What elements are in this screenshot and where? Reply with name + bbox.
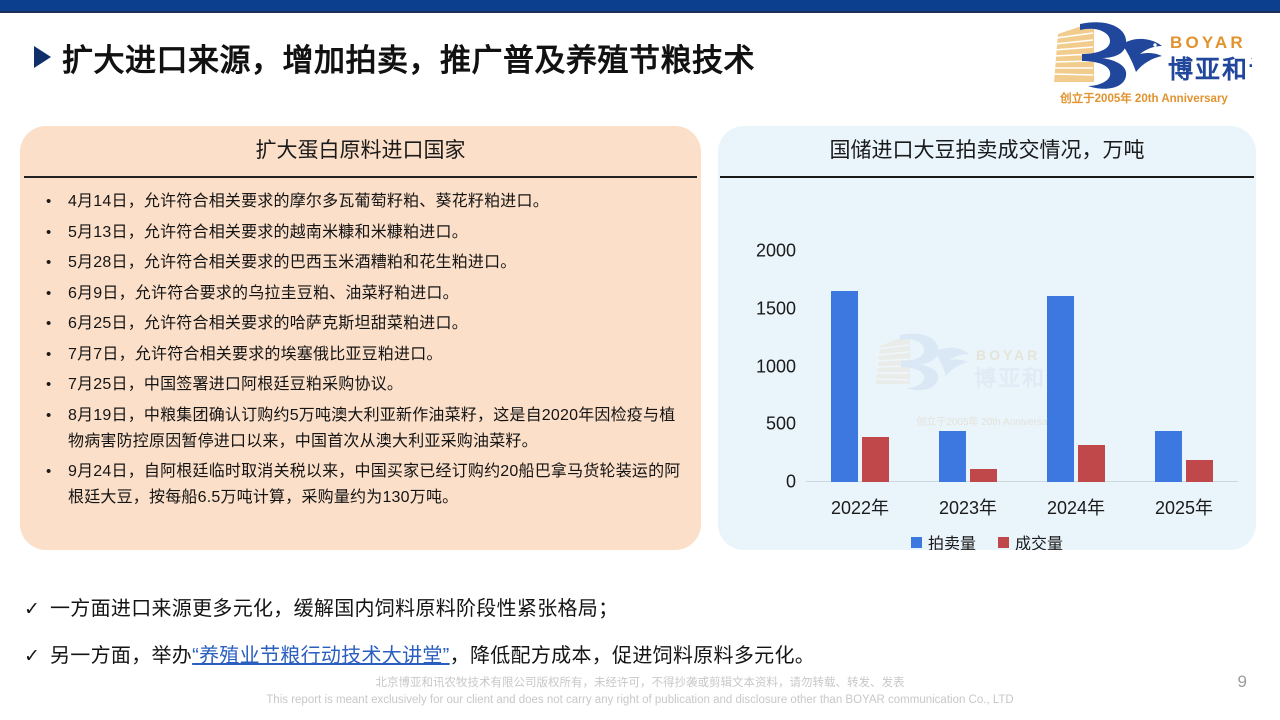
- y-axis-tick-label: 2000: [756, 241, 796, 262]
- bar-traded-volume: [1186, 460, 1213, 482]
- list-item-text: 7月7日，允许符合相关要求的埃塞俄比亚豆粕进口。: [68, 342, 443, 368]
- list-item: •8月19日，中粮集团确认订购约5万吨澳大利亚新作油菜籽，这是自2020年因检疫…: [46, 403, 681, 455]
- bar-auction-volume: [1155, 431, 1182, 482]
- x-axis-tick-label: 2024年: [1047, 494, 1105, 520]
- bullet-dot-icon: •: [46, 403, 68, 429]
- page-number: 9: [1238, 672, 1247, 692]
- conclusion-text: 另一方面，举办“养殖业节粮行动技术大讲堂”，降低配方成本，促进饲料原料多元化。: [50, 639, 815, 668]
- x-axis-tick-label: 2022年: [831, 494, 889, 520]
- left-content-panel: 扩大蛋白原料进口国家 •4月14日，允许符合相关要求的摩尔多瓦葡萄籽粕、葵花籽粕…: [20, 126, 701, 550]
- y-axis-tick-label: 0: [786, 472, 796, 493]
- footer-copyright-en: This report is meant exclusively for our…: [0, 692, 1280, 709]
- bar-traded-volume: [970, 469, 997, 482]
- page-title-text: 扩大进口来源，增加拍卖，推广普及养殖节粮技术: [62, 35, 755, 80]
- bullet-dot-icon: •: [46, 372, 68, 398]
- list-item: •5月28日，允许符合相关要求的巴西玉米酒糟粕和花生粕进口。: [46, 250, 681, 276]
- bar-traded-volume: [862, 437, 889, 482]
- list-item: •6月25日，允许符合相关要求的哈萨克斯坦甜菜粕进口。: [46, 311, 681, 337]
- page-title: 扩大进口来源，增加拍卖，推广普及养殖节粮技术: [34, 31, 755, 83]
- bullet-dot-icon: •: [46, 342, 68, 368]
- conclusion-text-post: ，降低配方成本，促进饲料原料多元化。: [450, 645, 815, 667]
- list-item-text: 5月13日，允许符合相关要求的越南米糠和米糠粕进口。: [68, 220, 468, 246]
- conclusion-row: ✓另一方面，举办“养殖业节粮行动技术大讲堂”，降低配方成本，促进饲料原料多元化。: [24, 639, 1244, 668]
- chart-panel: 国储进口大豆拍卖成交情况，万吨 BOYAR 博亚和讯 创立于2005年 20th: [718, 126, 1256, 550]
- bar-auction-volume: [831, 291, 858, 482]
- list-item-text: 6月25日，允许符合相关要求的哈萨克斯坦甜菜粕进口。: [68, 311, 468, 337]
- company-logo: BOYAR 博亚和讯 创立于2005年 20th Anniversary: [1036, 16, 1252, 108]
- x-axis-tick-label: 2023年: [939, 494, 997, 520]
- bar-auction-volume: [1047, 296, 1074, 482]
- list-item-text: 8月19日，中粮集团确认订购约5万吨澳大利亚新作油菜籽，这是自2020年因检疫与…: [68, 403, 681, 455]
- list-item-text: 9月24日，自阿根廷临时取消关税以来，中国买家已经订购约20船巴拿马货轮装运的阿…: [68, 459, 681, 511]
- bullet-list: •4月14日，允许符合相关要求的摩尔多瓦葡萄籽粕、葵花籽粕进口。•5月13日，允…: [20, 178, 701, 511]
- x-axis-labels: 2022年2023年2024年2025年: [806, 494, 1238, 522]
- bullet-dot-icon: •: [46, 281, 68, 307]
- top-accent-bar: [0, 0, 1280, 13]
- y-axis-tick-label: 1000: [756, 356, 796, 377]
- chart-legend: 拍卖量成交量: [718, 530, 1256, 550]
- conclusion-hyperlink[interactable]: “养殖业节粮行动技术大讲堂”: [192, 645, 450, 667]
- y-axis: 0500100015002000: [718, 178, 800, 550]
- list-item: •6月9日，允许符合要求的乌拉圭豆粕、油菜籽粕进口。: [46, 281, 681, 307]
- bar-auction-volume: [939, 431, 966, 482]
- list-item-text: 5月28日，允许符合相关要求的巴西玉米酒糟粕和花生粕进口。: [68, 250, 517, 276]
- bar-traded-volume: [1078, 445, 1105, 482]
- conclusion-text-pre: 另一方面，举办: [50, 645, 192, 667]
- bullet-dot-icon: •: [46, 459, 68, 485]
- check-icon: ✓: [24, 598, 50, 621]
- logo-bird-mark: BOYAR 博亚和讯: [1036, 16, 1252, 96]
- conclusion-text: 一方面进口来源更多元化，缓解国内饲料原料阶段性紧张格局；: [50, 592, 618, 621]
- y-axis-tick-label: 500: [766, 414, 796, 435]
- footer-copyright-cn: 北京博亚和讯农牧技术有限公司版权所有，未经许可，不得抄袭或剪辑文本资料，请勿转载…: [0, 675, 1280, 692]
- list-item: •4月14日，允许符合相关要求的摩尔多瓦葡萄籽粕、葵花籽粕进口。: [46, 189, 681, 215]
- conclusion-row: ✓一方面进口来源更多元化，缓解国内饲料原料阶段性紧张格局；: [24, 592, 1244, 621]
- list-item-text: 7月25日，中国签署进口阿根廷豆粕采购协议。: [68, 372, 403, 398]
- left-panel-title: 扩大蛋白原料进口国家: [20, 126, 701, 176]
- conclusion-text-pre: 一方面进口来源更多元化，缓解国内饲料原料阶段性紧张格局；: [50, 598, 618, 620]
- bullet-dot-icon: •: [46, 250, 68, 276]
- footer: 北京博亚和讯农牧技术有限公司版权所有，未经许可，不得抄袭或剪辑文本资料，请勿转载…: [0, 675, 1280, 709]
- bullet-dot-icon: •: [46, 220, 68, 246]
- legend-label: 拍卖量: [928, 530, 976, 550]
- bullet-dot-icon: •: [46, 311, 68, 337]
- triangle-bullet-icon: [34, 46, 51, 68]
- chart-area: BOYAR 博亚和讯 创立于2005年 20th Anniversary 050…: [718, 178, 1256, 550]
- y-axis-tick-label: 1500: [756, 298, 796, 319]
- legend-swatch-icon: [911, 537, 922, 548]
- svg-text:BOYAR: BOYAR: [1170, 33, 1246, 52]
- legend-item[interactable]: 成交量: [998, 530, 1063, 550]
- legend-label: 成交量: [1015, 530, 1063, 550]
- legend-item[interactable]: 拍卖量: [911, 530, 976, 550]
- list-item: •7月25日，中国签署进口阿根廷豆粕采购协议。: [46, 372, 681, 398]
- conclusion-list: ✓一方面进口来源更多元化，缓解国内饲料原料阶段性紧张格局；✓另一方面，举办“养殖…: [24, 592, 1244, 686]
- legend-swatch-icon: [998, 537, 1009, 548]
- x-axis-tick-label: 2025年: [1155, 494, 1213, 520]
- logo-tagline: 创立于2005年 20th Anniversary: [1036, 90, 1252, 106]
- list-item: •5月13日，允许符合相关要求的越南米糠和米糠粕进口。: [46, 220, 681, 246]
- list-item-text: 6月9日，允许符合要求的乌拉圭豆粕、油菜籽粕进口。: [68, 281, 459, 307]
- chart-title: 国储进口大豆拍卖成交情况，万吨: [718, 126, 1256, 176]
- bullet-dot-icon: •: [46, 189, 68, 215]
- check-icon: ✓: [24, 645, 50, 668]
- list-item-text: 4月14日，允许符合相关要求的摩尔多瓦葡萄籽粕、葵花籽粕进口。: [68, 189, 549, 215]
- svg-text:博亚和讯: 博亚和讯: [1168, 56, 1252, 84]
- list-item: •7月7日，允许符合相关要求的埃塞俄比亚豆粕进口。: [46, 342, 681, 368]
- list-item: •9月24日，自阿根廷临时取消关税以来，中国买家已经订购约20船巴拿马货轮装运的…: [46, 459, 681, 511]
